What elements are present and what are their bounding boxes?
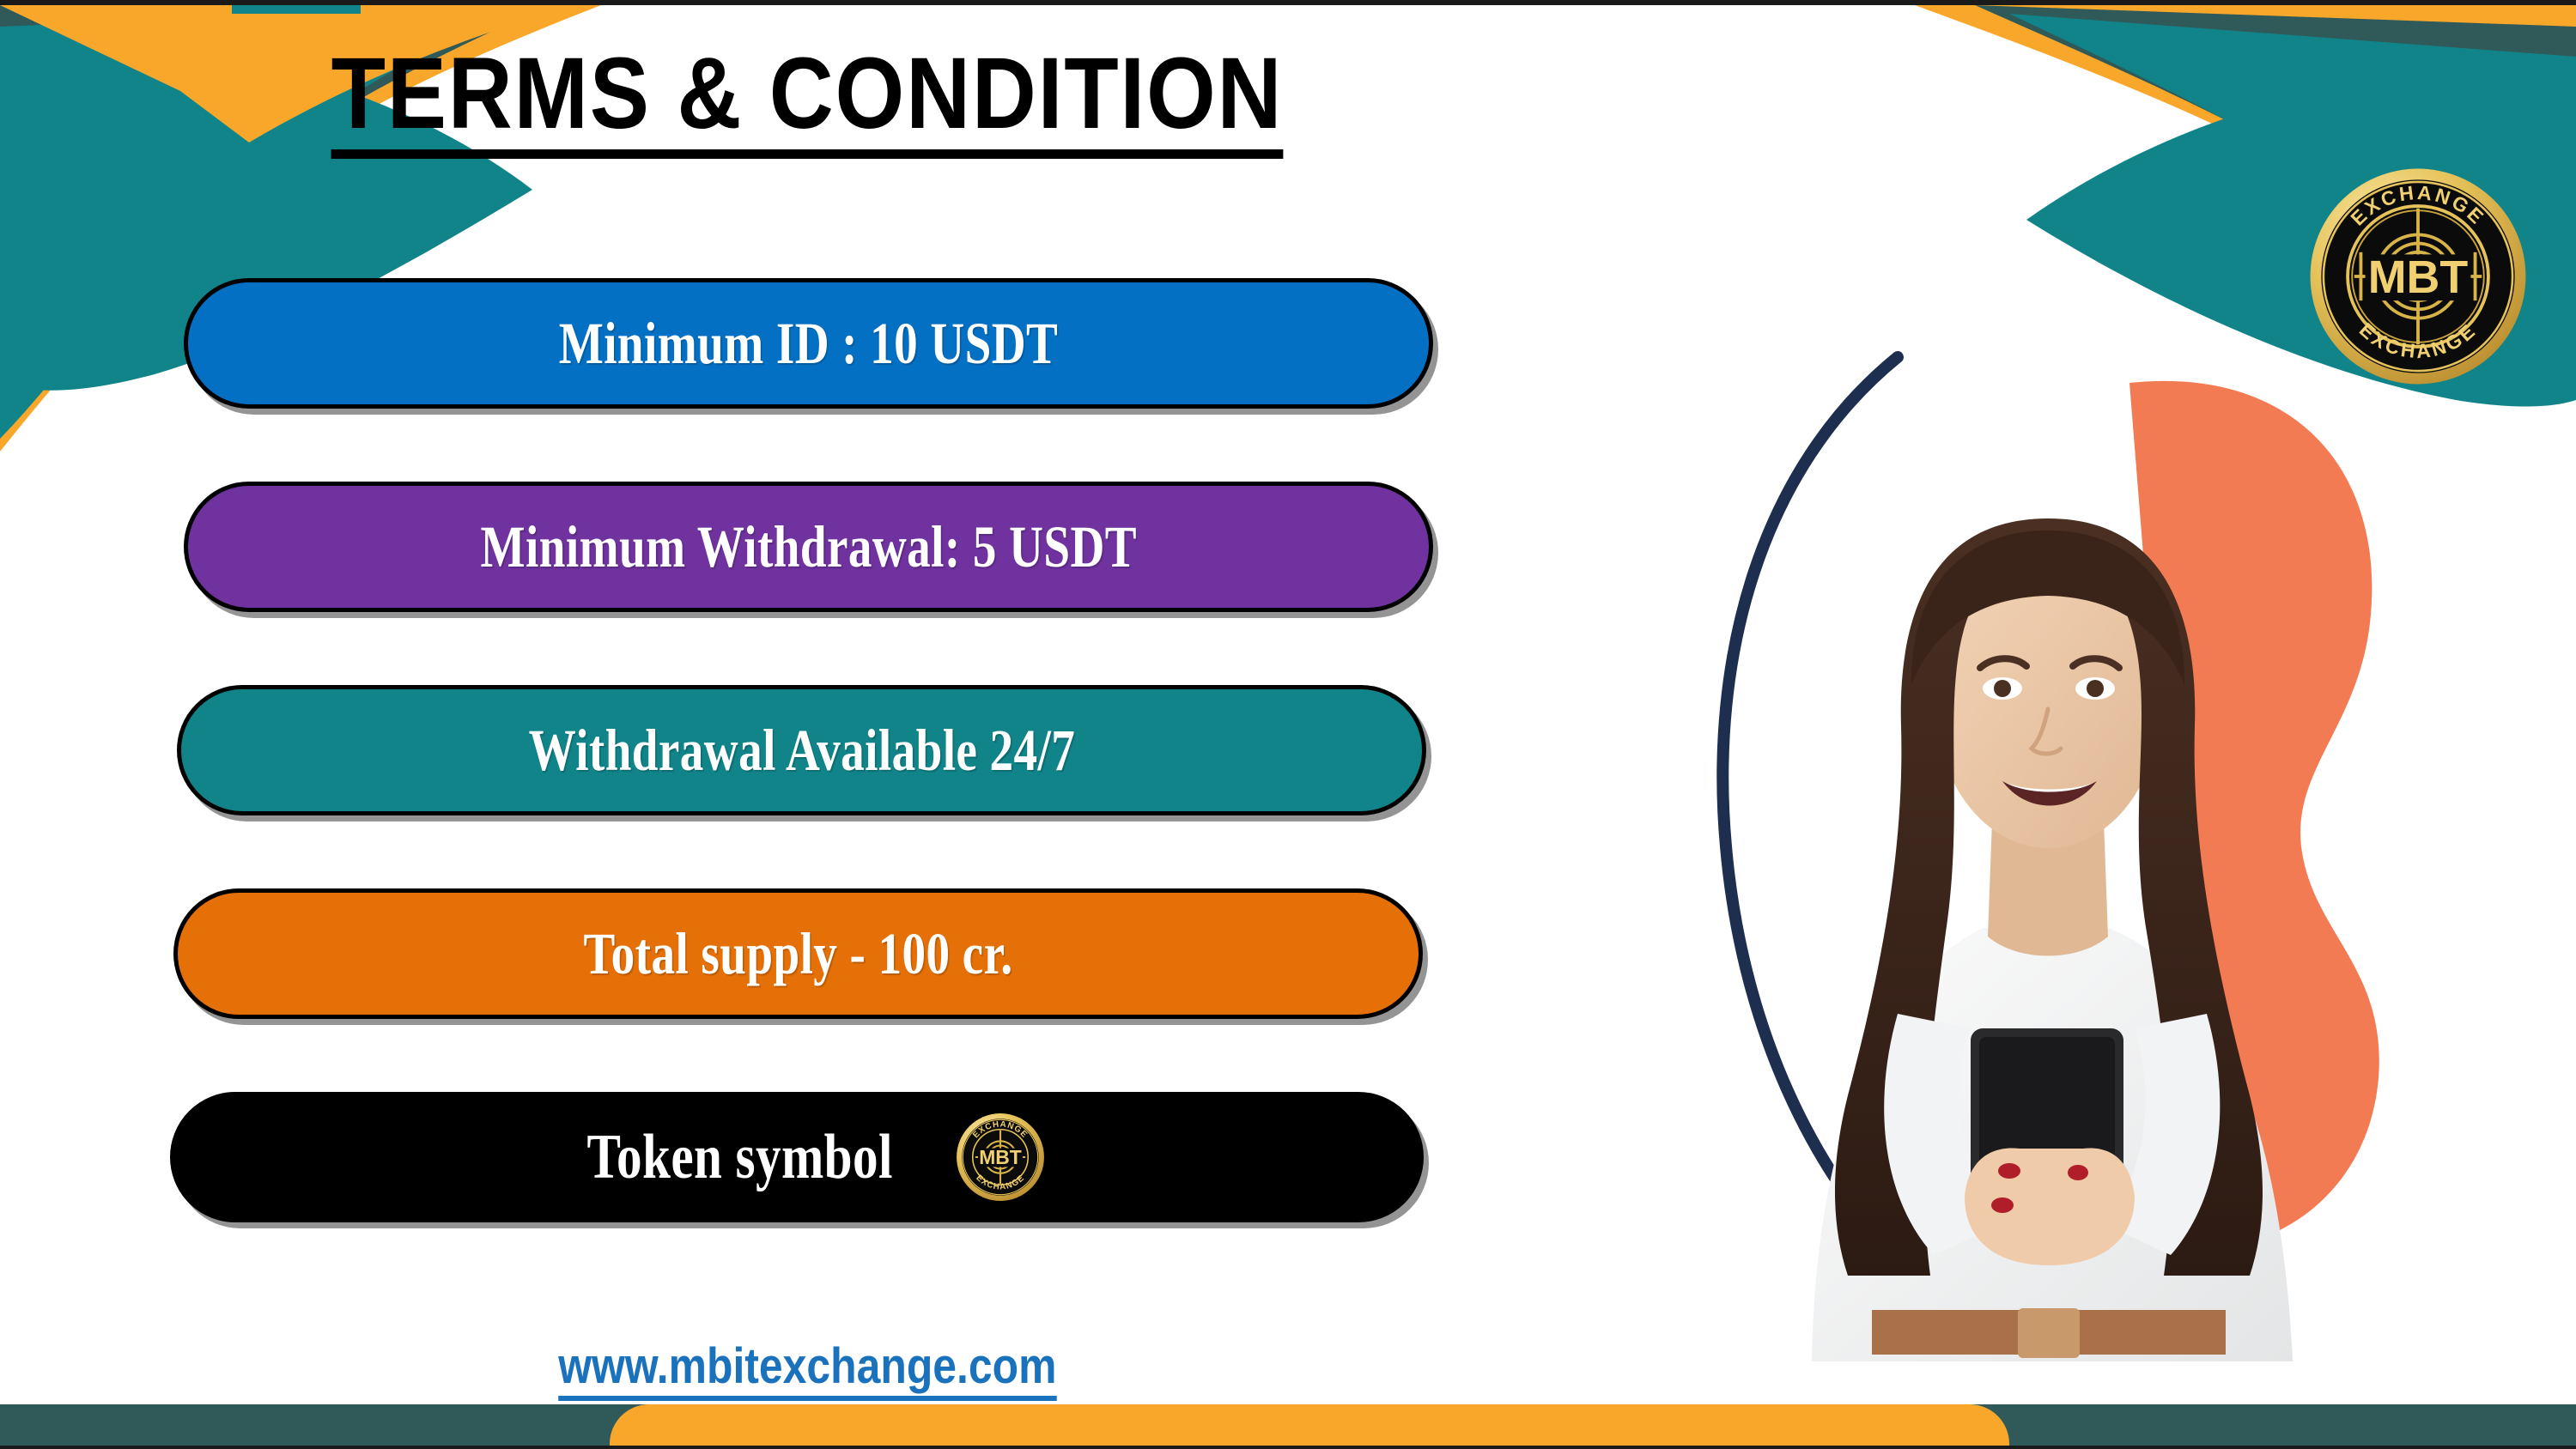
term-pill-withdrawal-availability[interactable]: Withdrawal Available 24/7 xyxy=(177,685,1426,815)
coin-icon: MBT EXCHANGE EXCHANGE xyxy=(956,1113,1045,1202)
term-label: Minimum Withdrawal: 5 USDT xyxy=(480,513,1136,581)
top-left-amber-tab xyxy=(361,5,558,17)
website-url-link[interactable]: www.mbitexchange.com xyxy=(558,1337,1056,1401)
term-label: Withdrawal Available 24/7 xyxy=(528,717,1075,785)
term-pill-total-supply[interactable]: Total supply - 100 cr. xyxy=(173,888,1423,1019)
term-label: Minimum ID : 10 USDT xyxy=(559,310,1059,378)
term-label: Total supply - 100 cr. xyxy=(583,920,1012,988)
page-title: TERMS & CONDITION xyxy=(331,41,1284,159)
top-left-teal-tab xyxy=(232,5,361,14)
term-label: Token symbol xyxy=(587,1121,893,1194)
term-pill-minimum-id[interactable]: Minimum ID : 10 USDT xyxy=(184,278,1433,409)
footer-amber-bar xyxy=(610,1404,2009,1446)
terms-list: Minimum ID : 10 USDT Minimum Withdrawal:… xyxy=(168,278,1431,1222)
hero-illustration xyxy=(1614,108,2473,1396)
term-pill-token-symbol[interactable]: Token symbol xyxy=(170,1092,1424,1222)
website-url-wrapper: www.mbitexchange.com xyxy=(0,1337,1614,1401)
coin-center-text: MBT xyxy=(979,1146,1022,1168)
page-title-wrapper: TERMS & CONDITION xyxy=(0,41,1614,159)
hero-graphic xyxy=(1614,108,2473,1396)
mbt-exchange-coin-logo-small: MBT EXCHANGE EXCHANGE xyxy=(956,1113,1045,1202)
term-pill-minimum-withdrawal[interactable]: Minimum Withdrawal: 5 USDT xyxy=(184,482,1433,612)
slide-canvas: TERMS & CONDITION xyxy=(0,0,2576,1449)
